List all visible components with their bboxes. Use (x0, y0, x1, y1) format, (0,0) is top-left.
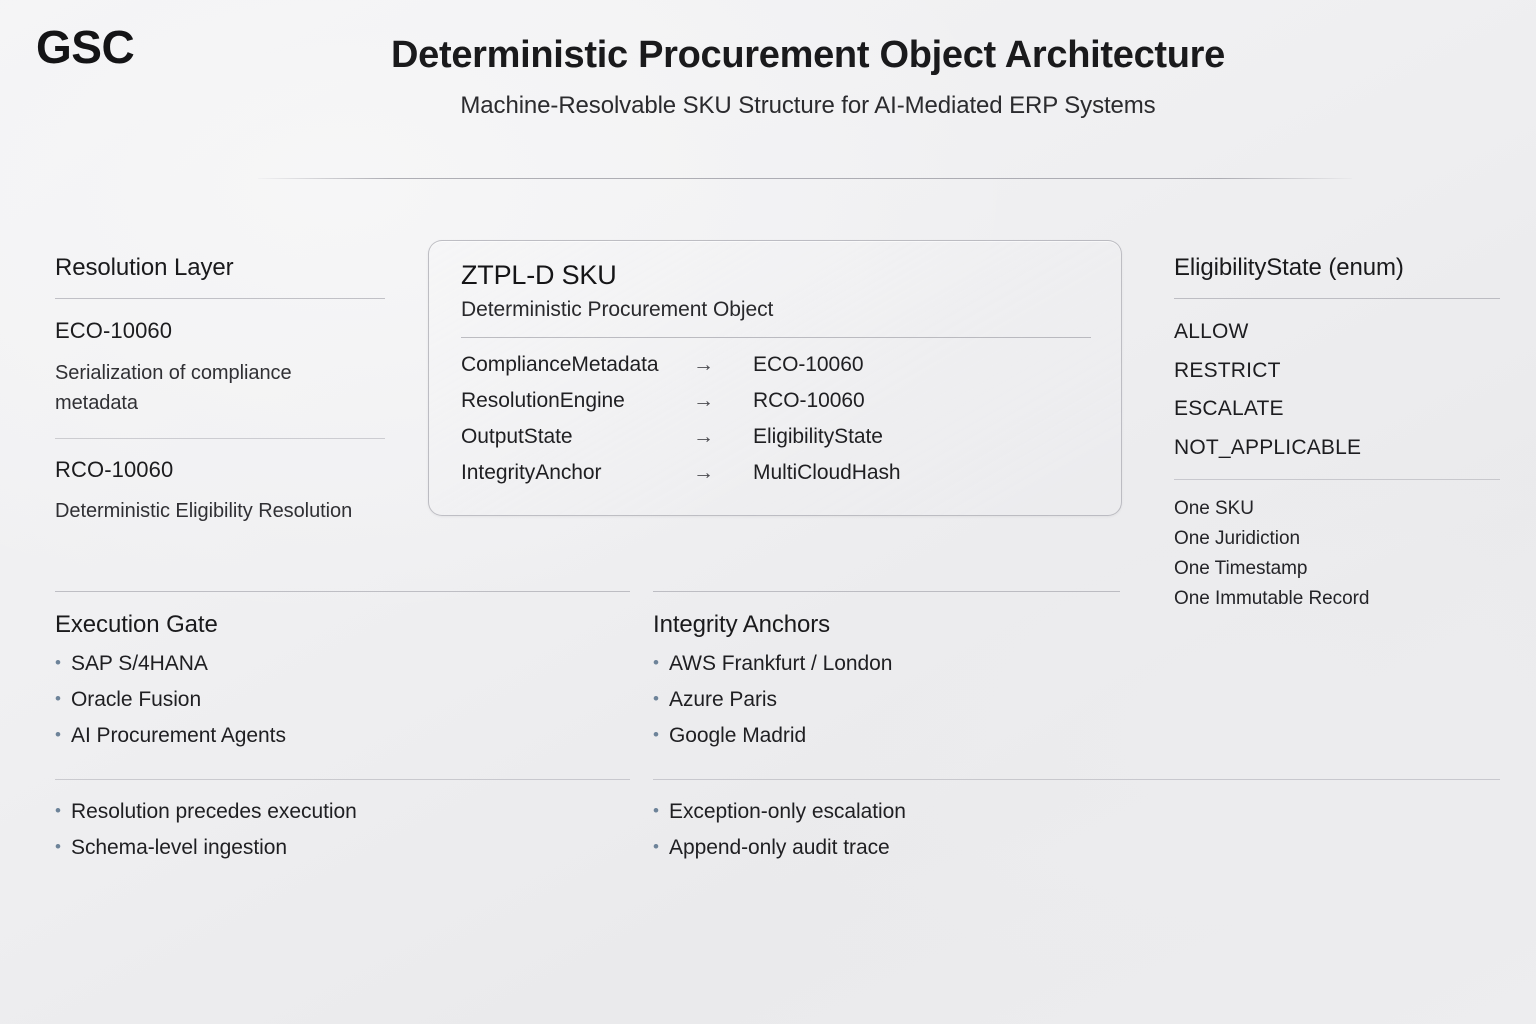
bullet-dot-icon: • (55, 838, 71, 855)
eligibility-state-heading-divider (1174, 298, 1500, 299)
integrity-anchors-top-divider (653, 591, 1120, 592)
list-item-label: SAP S/4HANA (71, 652, 208, 676)
list-item: • Resolution precedes execution (55, 800, 357, 836)
list-item: • AI Procurement Agents (55, 724, 286, 760)
list-item-label: Exception-only escalation (669, 800, 906, 824)
sku-card-title: ZTPL-D SKU (461, 260, 617, 291)
list-item: • Append-only audit trace (653, 836, 906, 872)
sku-field-key: ComplianceMetadata (461, 353, 693, 377)
eligibility-fact: One Juridiction (1174, 528, 1300, 550)
list-item-label: Oracle Fusion (71, 688, 201, 712)
list-item: • Schema-level ingestion (55, 836, 357, 872)
list-item-label: Append-only audit trace (669, 836, 890, 860)
list-item: • Google Madrid (653, 724, 892, 760)
list-item-label: Azure Paris (669, 688, 777, 712)
resolution-entry-divider (55, 438, 385, 439)
resolution-entry-description-0: Serialization of compliance metadata (55, 358, 375, 418)
eligibility-state-facts-divider (1174, 479, 1500, 480)
enum-value: RESTRICT (1174, 359, 1281, 383)
list-item: • Azure Paris (653, 688, 892, 724)
sku-field-row: ComplianceMetadata → ECO-10060 (461, 353, 1091, 389)
sku-card-subtitle: Deterministic Procurement Object (461, 298, 773, 322)
sku-field-list: ComplianceMetadata → ECO-10060 Resolutio… (461, 353, 1091, 497)
sku-field-row: OutputState → EligibilityState (461, 425, 1091, 461)
eligibility-fact: One Immutable Record (1174, 588, 1369, 610)
sku-field-key: IntegrityAnchor (461, 461, 693, 485)
sku-card-divider (461, 337, 1091, 338)
integrity-anchors-notes-list: • Exception-only escalation • Append-onl… (653, 800, 906, 872)
bullet-dot-icon: • (653, 726, 669, 743)
sku-field-key: ResolutionEngine (461, 389, 693, 413)
execution-gate-top-divider (55, 591, 630, 592)
header-divider (258, 178, 1352, 179)
page-subtitle: Machine-Resolvable SKU Structure for AI-… (0, 92, 1536, 120)
resolution-entry-code-0: ECO-10060 (55, 318, 172, 344)
enum-value: NOT_APPLICABLE (1174, 436, 1361, 460)
section-heading-eligibility-state: EligibilityState (enum) (1174, 254, 1404, 282)
enum-value: ESCALATE (1174, 397, 1284, 421)
sku-field-value: ECO-10060 (753, 353, 1091, 377)
slide-root: GSC Deterministic Procurement Object Arc… (0, 0, 1536, 1024)
sku-field-key: OutputState (461, 425, 693, 449)
arrow-right-icon: → (693, 353, 753, 377)
eligibility-fact: One SKU (1174, 498, 1254, 520)
list-item-label: AWS Frankfurt / London (669, 652, 892, 676)
eligibility-fact: One Timestamp (1174, 558, 1307, 580)
section-heading-resolution-layer: Resolution Layer (55, 254, 234, 282)
bullet-dot-icon: • (653, 690, 669, 707)
sku-field-row: IntegrityAnchor → MultiCloudHash (461, 461, 1091, 497)
integrity-anchors-notes-divider (653, 779, 1500, 780)
sku-field-row: ResolutionEngine → RCO-10060 (461, 389, 1091, 425)
integrity-anchors-list: • AWS Frankfurt / London • Azure Paris •… (653, 652, 892, 760)
arrow-right-icon: → (693, 425, 753, 449)
list-item-label: Resolution precedes execution (71, 800, 357, 824)
list-item-label: AI Procurement Agents (71, 724, 286, 748)
execution-gate-notes-list: • Resolution precedes execution • Schema… (55, 800, 357, 872)
section-heading-integrity-anchors: Integrity Anchors (653, 611, 830, 639)
list-item: • SAP S/4HANA (55, 652, 286, 688)
resolution-layer-heading-divider (55, 298, 385, 299)
arrow-right-icon: → (693, 389, 753, 413)
bullet-dot-icon: • (55, 654, 71, 671)
bullet-dot-icon: • (653, 654, 669, 671)
list-item-label: Schema-level ingestion (71, 836, 287, 860)
bullet-dot-icon: • (55, 690, 71, 707)
sku-field-value: RCO-10060 (753, 389, 1091, 413)
execution-gate-notes-divider (55, 779, 630, 780)
list-item: • Oracle Fusion (55, 688, 286, 724)
page-title: Deterministic Procurement Object Archite… (0, 34, 1536, 78)
list-item-label: Google Madrid (669, 724, 806, 748)
bullet-dot-icon: • (55, 802, 71, 819)
list-item: • Exception-only escalation (653, 800, 906, 836)
execution-gate-list: • SAP S/4HANA • Oracle Fusion • AI Procu… (55, 652, 286, 760)
resolution-entry-description-1: Deterministic Eligibility Resolution (55, 496, 375, 526)
resolution-entry-code-1: RCO-10060 (55, 457, 173, 483)
bullet-dot-icon: • (653, 802, 669, 819)
bullet-dot-icon: • (653, 838, 669, 855)
list-item: • AWS Frankfurt / London (653, 652, 892, 688)
arrow-right-icon: → (693, 461, 753, 485)
sku-field-value: EligibilityState (753, 425, 1091, 449)
bullet-dot-icon: • (55, 726, 71, 743)
section-heading-execution-gate: Execution Gate (55, 611, 218, 639)
sku-field-value: MultiCloudHash (753, 461, 1091, 485)
enum-value: ALLOW (1174, 320, 1249, 344)
sku-card: ZTPL-D SKU Deterministic Procurement Obj… (428, 240, 1122, 516)
